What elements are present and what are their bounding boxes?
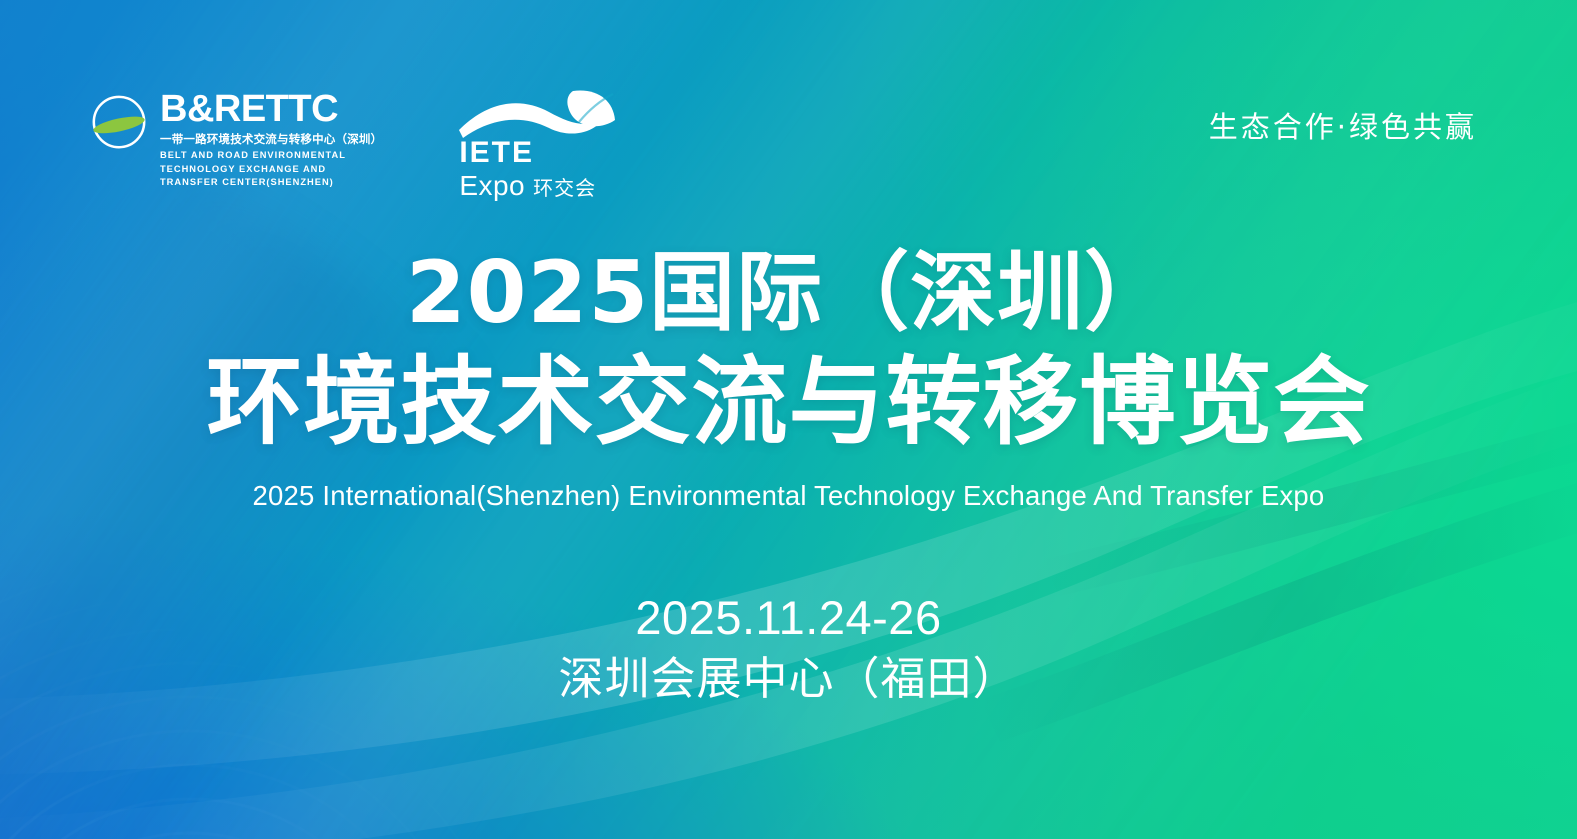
poster-main: 2025国际（深圳） 环境技术交流与转移博览会 2025 Internation… bbox=[0, 250, 1577, 708]
event-poster: B&RETTC 一带一路环境技术交流与转移中心（深圳） BELT AND ROA… bbox=[0, 0, 1577, 839]
event-date: 2025.11.24-26 bbox=[0, 590, 1577, 645]
iete-expo-word: Expo bbox=[459, 172, 525, 200]
iete-expo-logo: IETE Expo 环交会 bbox=[451, 88, 621, 192]
logo-lockup-group: B&RETTC 一带一路环境技术交流与转移中心（深圳） BELT AND ROA… bbox=[88, 88, 621, 192]
iete-text-block: IETE Expo 环交会 bbox=[459, 138, 596, 200]
title-line-2: 环境技术交流与转移博览会 bbox=[0, 354, 1577, 450]
iete-chinese-short: 环交会 bbox=[533, 178, 596, 198]
english-subtitle: 2025 International(Shenzhen) Environment… bbox=[0, 480, 1577, 512]
brettc-chinese-name: 一带一路环境技术交流与转移中心（深圳） bbox=[160, 132, 382, 146]
title-line-1: 2025国际（深圳） bbox=[0, 250, 1577, 336]
iete-acronym: IETE bbox=[459, 138, 596, 168]
poster-header: B&RETTC 一带一路环境技术交流与转移中心（深圳） BELT AND ROA… bbox=[0, 0, 1577, 200]
iete-subline: Expo 环交会 bbox=[459, 172, 596, 200]
globe-ellipse-mark bbox=[88, 92, 150, 154]
brettc-logo: B&RETTC 一带一路环境技术交流与转移中心（深圳） BELT AND ROA… bbox=[88, 88, 382, 189]
logo-divider bbox=[416, 94, 417, 190]
event-info-block: 2025.11.24-26 深圳会展中心（福田） bbox=[0, 590, 1577, 708]
event-venue: 深圳会展中心（福田） bbox=[0, 651, 1577, 707]
brettc-english-name: BELT AND ROAD ENVIRONMENTAL TECHNOLOGY E… bbox=[160, 149, 374, 189]
header-slogan: 生态合作·绿色共赢 bbox=[1209, 104, 1477, 146]
brettc-wordmark: B&RETTC bbox=[160, 90, 382, 128]
brettc-text-block: B&RETTC 一带一路环境技术交流与转移中心（深圳） BELT AND ROA… bbox=[160, 88, 382, 189]
